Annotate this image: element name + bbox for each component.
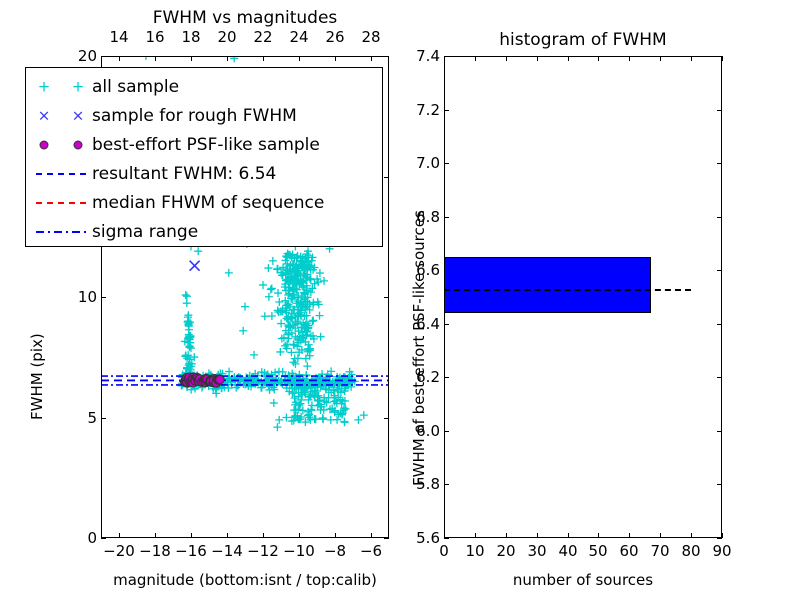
legend-marker-cross-icon: ×× [30, 104, 92, 128]
left-top-tick-label: 18 [181, 28, 200, 46]
right-x-tick-label: 20 [496, 542, 515, 560]
left-x-tick-label: −12 [247, 542, 279, 560]
right-x-tick-label: 70 [650, 542, 669, 560]
dashed-line-icon [36, 202, 86, 204]
left-x-tick-label: −6 [360, 542, 382, 560]
right-y-tick-label: 7.4 [402, 47, 440, 65]
right-y-tick-label: 5.6 [402, 529, 440, 547]
right-y-tick [444, 538, 449, 539]
left-y-tick-label: 20 [67, 47, 97, 65]
legend-item-5: sigma range [30, 217, 382, 246]
left-x-axis-label: magnitude (bottom:isnt / top:calib) [101, 571, 389, 589]
legend-item-0: ++all sample [30, 72, 382, 101]
right-x-tick-label: 80 [681, 542, 700, 560]
right-plot-data-area [445, 57, 721, 537]
left-x-tick-label: −20 [103, 542, 135, 560]
left-top-tick-label: 26 [325, 28, 344, 46]
legend-label: all sample [92, 77, 179, 97]
dashed-line-icon [36, 173, 86, 175]
right-x-tick-label: 60 [619, 542, 638, 560]
left-y-axis-label: FWHM (pix) [28, 333, 46, 420]
plus-icon: + [72, 79, 85, 94]
right-y-tick-label: 7.0 [402, 154, 440, 172]
left-x-tick-label: −14 [211, 542, 243, 560]
left-x-tick-label: −8 [324, 542, 346, 560]
right-y-axis-label: FWHM of best-effort PSF-like sources [410, 210, 428, 486]
legend-marker-plus-icon: ++ [30, 75, 92, 99]
legend-label: best-effort PSF-like sample [92, 135, 320, 155]
legend-item-2: best-effort PSF-like sample [30, 130, 382, 159]
right-x-tick-top [722, 56, 723, 61]
right-x-tick-label: 10 [465, 542, 484, 560]
legend-label: median FHWM of sequence [92, 193, 324, 213]
legend-label: sample for rough FWHM [92, 106, 297, 126]
left-y-tick-label: 10 [67, 288, 97, 306]
right-y-tick-right [717, 538, 722, 539]
left-top-tick-label: 16 [145, 28, 164, 46]
left-top-tick-label: 24 [289, 28, 308, 46]
legend-label: sigma range [92, 222, 198, 242]
right-x-tick-label: 50 [588, 542, 607, 560]
dashdot-line-icon [36, 231, 86, 233]
legend-item-3: resultant FWHM: 6.54 [30, 159, 382, 188]
figure-canvas: FWHM vs magnitudes 1416182022242628 −20−… [0, 0, 800, 600]
histogram-bar [445, 257, 651, 313]
left-y-tick-right [384, 538, 389, 539]
legend-label: resultant FWHM: 6.54 [92, 164, 276, 184]
left-y-tick-label: 5 [67, 409, 97, 427]
circle-icon [40, 140, 49, 149]
left-top-tick-label: 20 [217, 28, 236, 46]
left-top-tick-label: 28 [361, 28, 380, 46]
legend-item-4: median FHWM of sequence [30, 188, 382, 217]
left-plot-title: FWHM vs magnitudes [101, 8, 389, 28]
plus-icon: + [38, 79, 51, 94]
right-x-tick-label: 30 [527, 542, 546, 560]
right-plot-title: histogram of FWHM [444, 30, 722, 50]
circle-icon [74, 140, 83, 149]
right-y-tick-label: 7.2 [402, 101, 440, 119]
right-x-axis-label: number of sources [444, 571, 722, 589]
left-x-tick-label: −16 [175, 542, 207, 560]
legend-marker-dashed-line-icon [30, 191, 92, 215]
left-top-tick-label: 14 [109, 28, 128, 46]
left-y-tick [101, 538, 106, 539]
left-x-tick-label: −18 [139, 542, 171, 560]
cross-icon: × [72, 108, 85, 123]
right-x-tick-label: 90 [712, 542, 731, 560]
left-y-tick-label: 0 [67, 529, 97, 547]
cross-icon: × [38, 108, 51, 123]
left-top-tick-label: 22 [253, 28, 272, 46]
left-x-tick-label: −10 [283, 542, 315, 560]
right-x-tick-label: 40 [558, 542, 577, 560]
right-x-tick [722, 533, 723, 538]
legend-marker-dashdot-line-icon [30, 220, 92, 244]
legend-marker-circle-icon [30, 133, 92, 157]
plot-legend: ++all sample××sample for rough FWHMbest-… [25, 67, 383, 247]
legend-marker-dashed-line-icon [30, 162, 92, 186]
right-x-tick-label: 0 [439, 542, 449, 560]
legend-item-1: ××sample for rough FWHM [30, 101, 382, 130]
median-fwhm-line [445, 289, 691, 291]
